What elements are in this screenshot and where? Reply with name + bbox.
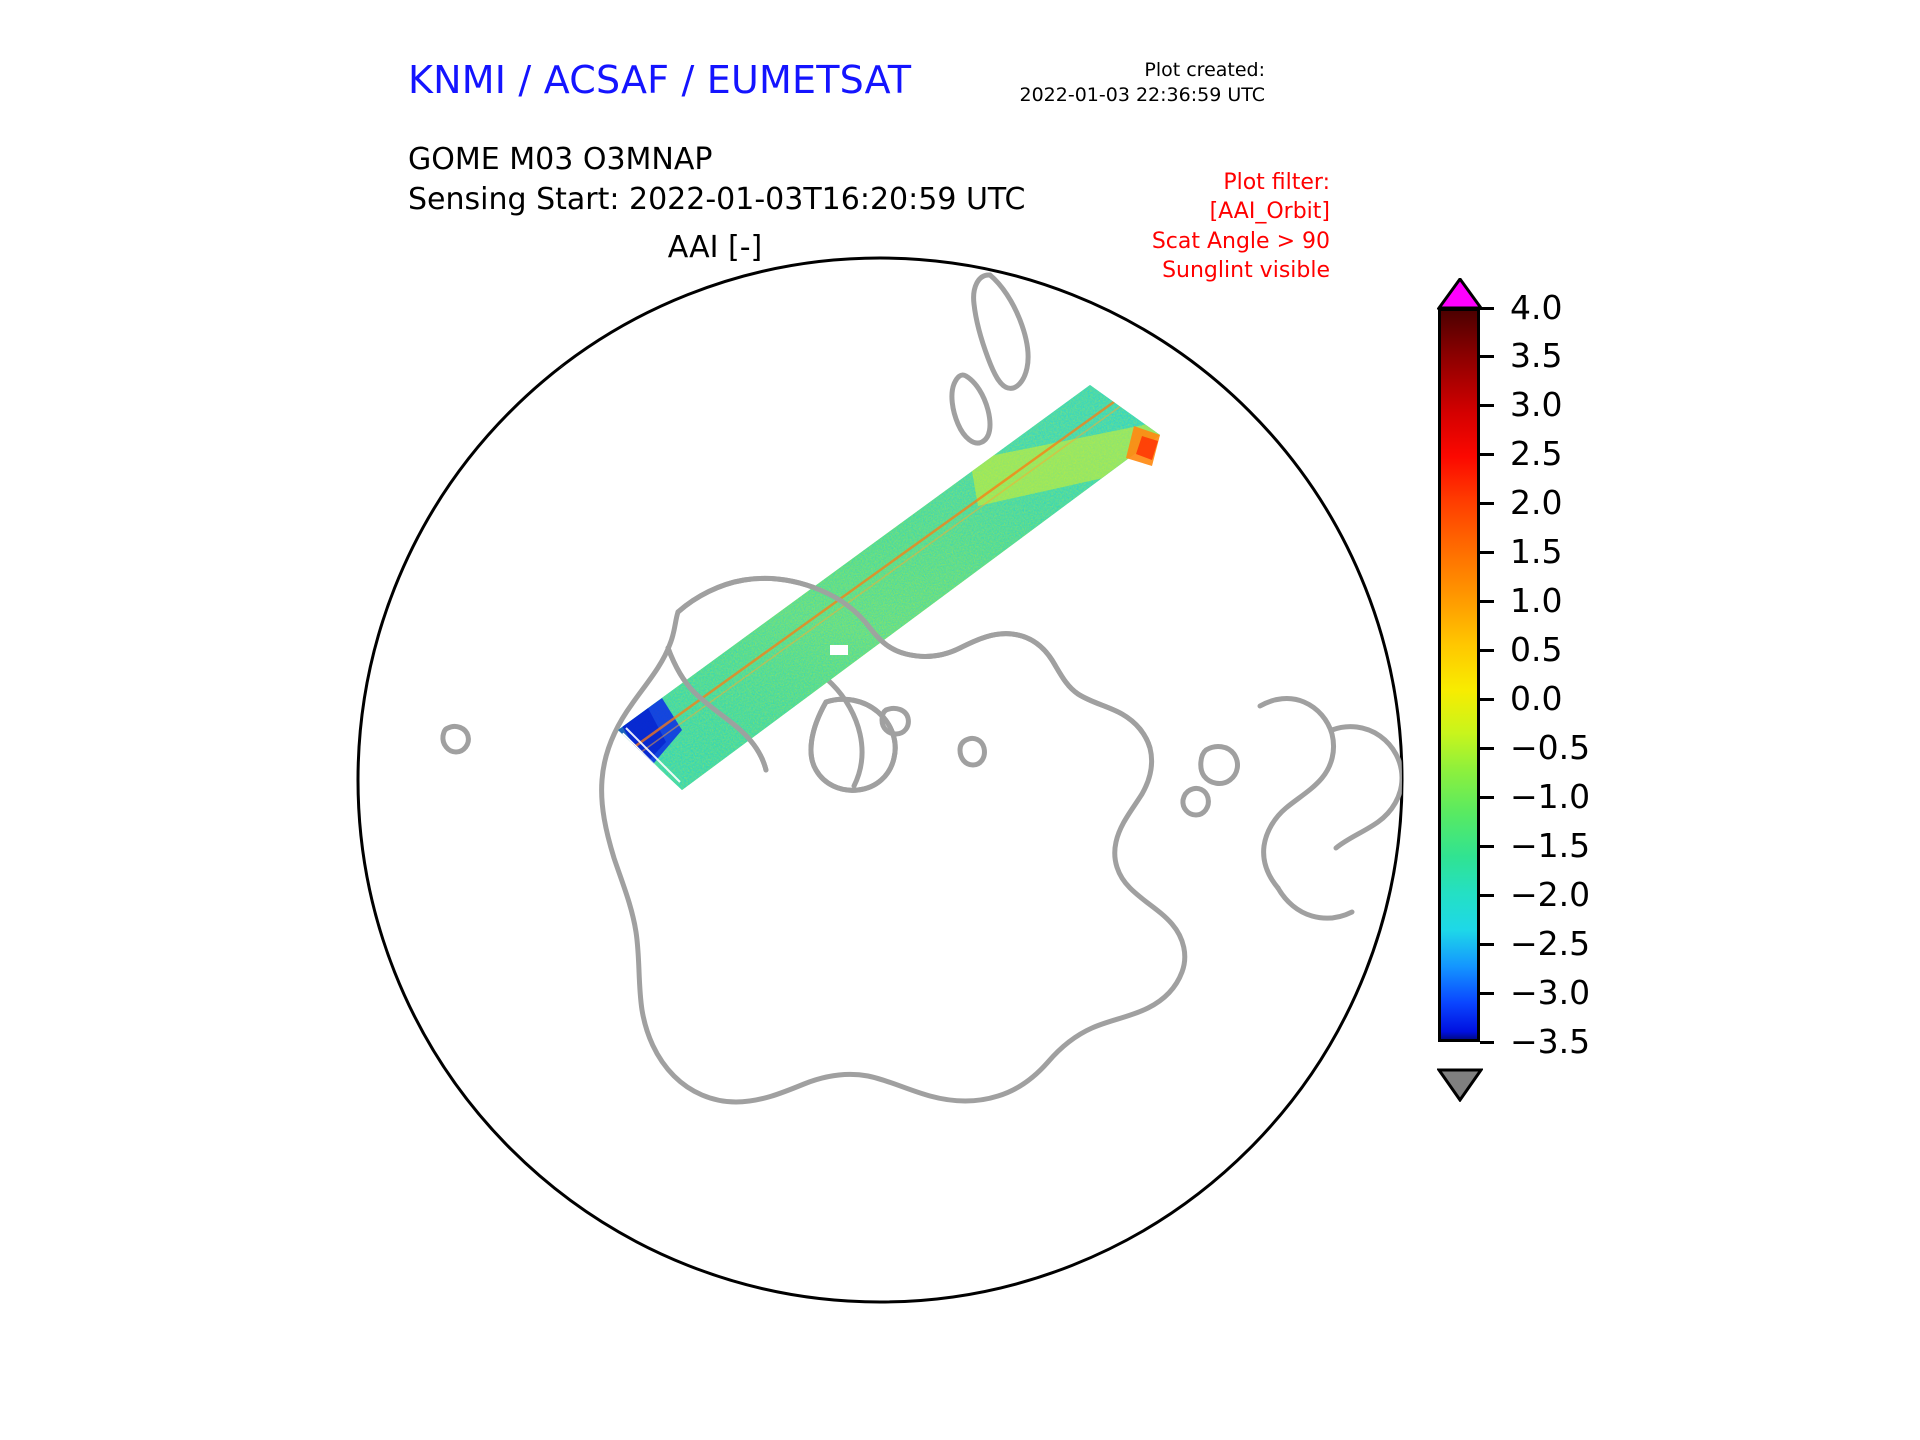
colorbar-tick-label: 1.0 [1510, 584, 1562, 617]
colorbar: 4.03.53.02.52.01.51.00.50.0−0.5−1.0−1.5−… [1438, 280, 1858, 1100]
plot-created-block: Plot created: 2022-01-03 22:36:59 UTC [1020, 58, 1266, 108]
plot-created-time: 2022-01-03 22:36:59 UTC [1020, 83, 1266, 108]
colorbar-tick-label: −1.0 [1510, 780, 1590, 813]
colorbar-tick-mark [1480, 698, 1494, 701]
plot-page: KNMI / ACSAF / EUMETSAT Plot created: 20… [0, 0, 1920, 1440]
colorbar-tick-label: 1.5 [1510, 535, 1562, 568]
colorbar-tick-mark [1480, 845, 1494, 848]
colorbar-tick-label: 2.5 [1510, 437, 1562, 470]
colorbar-tick-label: −0.5 [1510, 731, 1590, 764]
colorbar-tick-label: −2.0 [1510, 878, 1590, 911]
swath-gap-patch [830, 645, 848, 655]
product-name: GOME M03 O3MNAP [408, 140, 1025, 180]
plot-filter-value: [AAI_Orbit] [1152, 197, 1330, 226]
colorbar-tick-label: −2.5 [1510, 927, 1590, 960]
colorbar-tick-label: −1.5 [1510, 829, 1590, 862]
colorbar-tick-label: −3.0 [1510, 976, 1590, 1009]
colorbar-tick-mark [1480, 796, 1494, 799]
plot-created-label: Plot created: [1020, 58, 1266, 83]
colorbar-tick-label: 3.5 [1510, 339, 1562, 372]
colorbar-ticks: 4.03.53.02.52.01.51.00.50.0−0.5−1.0−1.5−… [1480, 308, 1840, 1042]
colorbar-tick-mark [1480, 649, 1494, 652]
product-info-block: GOME M03 O3MNAP Sensing Start: 2022-01-0… [408, 140, 1025, 220]
globe-map [330, 230, 1430, 1330]
colorbar-tick-mark [1480, 747, 1494, 750]
colorbar-tick-label: 0.5 [1510, 633, 1562, 666]
colorbar-tick-mark [1480, 894, 1494, 897]
colorbar-gradient [1438, 308, 1480, 1042]
colorbar-tick-label: 4.0 [1510, 291, 1562, 324]
colorbar-tick-mark [1480, 453, 1494, 456]
plot-filter-label: Plot filter: [1152, 168, 1330, 197]
colorbar-tick-label: 3.0 [1510, 388, 1562, 421]
colorbar-bar-wrap [1438, 280, 1480, 1070]
colorbar-under-range-arrow [1437, 1068, 1483, 1102]
sensing-start: Sensing Start: 2022-01-03T16:20:59 UTC [408, 180, 1025, 220]
map-area [330, 230, 1430, 1330]
colorbar-tick-mark [1480, 502, 1494, 505]
colorbar-tick-mark [1480, 600, 1494, 603]
coastline-island-b [528, 327, 567, 369]
colorbar-over-range-arrow [1437, 278, 1483, 310]
colorbar-tick-label: −3.5 [1510, 1025, 1590, 1058]
colorbar-tick-mark [1480, 943, 1494, 946]
colorbar-tick-label: 0.0 [1510, 682, 1562, 715]
colorbar-tick-mark [1480, 992, 1494, 995]
organization-title: KNMI / ACSAF / EUMETSAT [408, 58, 911, 102]
colorbar-tick-mark [1480, 1041, 1494, 1044]
coastline-island-a [514, 285, 544, 311]
colorbar-tick-mark [1480, 355, 1494, 358]
colorbar-tick-mark [1480, 307, 1494, 310]
colorbar-tick-label: 2.0 [1510, 486, 1562, 519]
colorbar-tick-mark [1480, 404, 1494, 407]
colorbar-tick-mark [1480, 551, 1494, 554]
